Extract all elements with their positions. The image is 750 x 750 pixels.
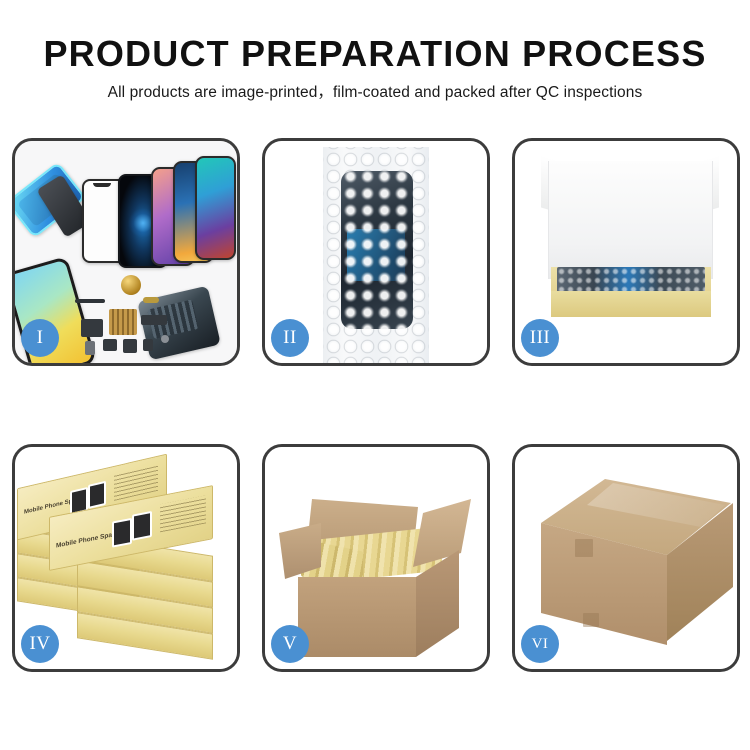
process-step-5[interactable]: V	[262, 444, 490, 672]
packed-screens	[557, 267, 705, 293]
step-1-image: I	[15, 141, 237, 363]
page-title: PRODUCT PREPARATION PROCESS	[0, 32, 750, 76]
carton-front-face	[298, 577, 416, 657]
retail-box-screen-img-d	[132, 511, 152, 541]
process-step-grid: I II III	[12, 138, 740, 672]
product-preparation-page: PRODUCT PREPARATION PROCESS All products…	[0, 0, 750, 750]
step-3-badge: III	[521, 319, 559, 357]
sim-tray-part	[85, 341, 95, 355]
step-1-badge: I	[21, 319, 59, 357]
step-3-image: III	[515, 141, 737, 363]
process-step-3[interactable]: III	[512, 138, 740, 366]
taptic-engine-part	[123, 339, 137, 353]
process-step-6[interactable]: VI	[512, 444, 740, 672]
step-4-image: Mobile Phone Spare Parts Mobile Phone Sp…	[15, 447, 237, 669]
page-subtitle: All products are image-printed，film-coat…	[0, 82, 750, 104]
retail-box-screen-img-c	[112, 518, 132, 548]
process-step-1[interactable]: I	[12, 138, 240, 366]
step-4-badge: IV	[21, 625, 59, 663]
bubble-texture	[323, 147, 429, 363]
step-6-badge: VI	[521, 625, 559, 663]
process-step-4[interactable]: Mobile Phone Spare Parts Mobile Phone Sp…	[12, 444, 240, 672]
chip-array-part	[109, 309, 137, 335]
step-6-image: VI	[515, 447, 737, 669]
earpiece-mesh-part	[75, 299, 105, 303]
mailer-back-panel	[548, 161, 713, 279]
camera-flex-part	[81, 319, 103, 337]
button-flex-part	[143, 297, 159, 303]
step-2-image: II	[265, 141, 487, 363]
process-step-2[interactable]: II	[262, 138, 490, 366]
spare-parts-cluster	[75, 281, 185, 363]
retail-box-screen-img-b	[88, 481, 106, 509]
teal-gradient-phone	[195, 156, 236, 260]
header: PRODUCT PREPARATION PROCESS All products…	[0, 32, 750, 104]
vibrator-part	[103, 339, 117, 351]
ribbon-cable-part	[141, 315, 167, 325]
step-2-badge: II	[271, 319, 309, 357]
carton-seam-tab-upper	[575, 539, 593, 557]
bubble-wrap-pouch	[323, 147, 429, 363]
step-5-badge: V	[271, 625, 309, 663]
camera-module-part	[143, 339, 153, 351]
speaker-part-icon	[121, 275, 141, 295]
screw-part	[161, 335, 169, 343]
carton-seam-tab-lower	[583, 613, 599, 627]
step-5-image: V	[265, 447, 487, 669]
mailer-front-wall	[551, 291, 711, 317]
